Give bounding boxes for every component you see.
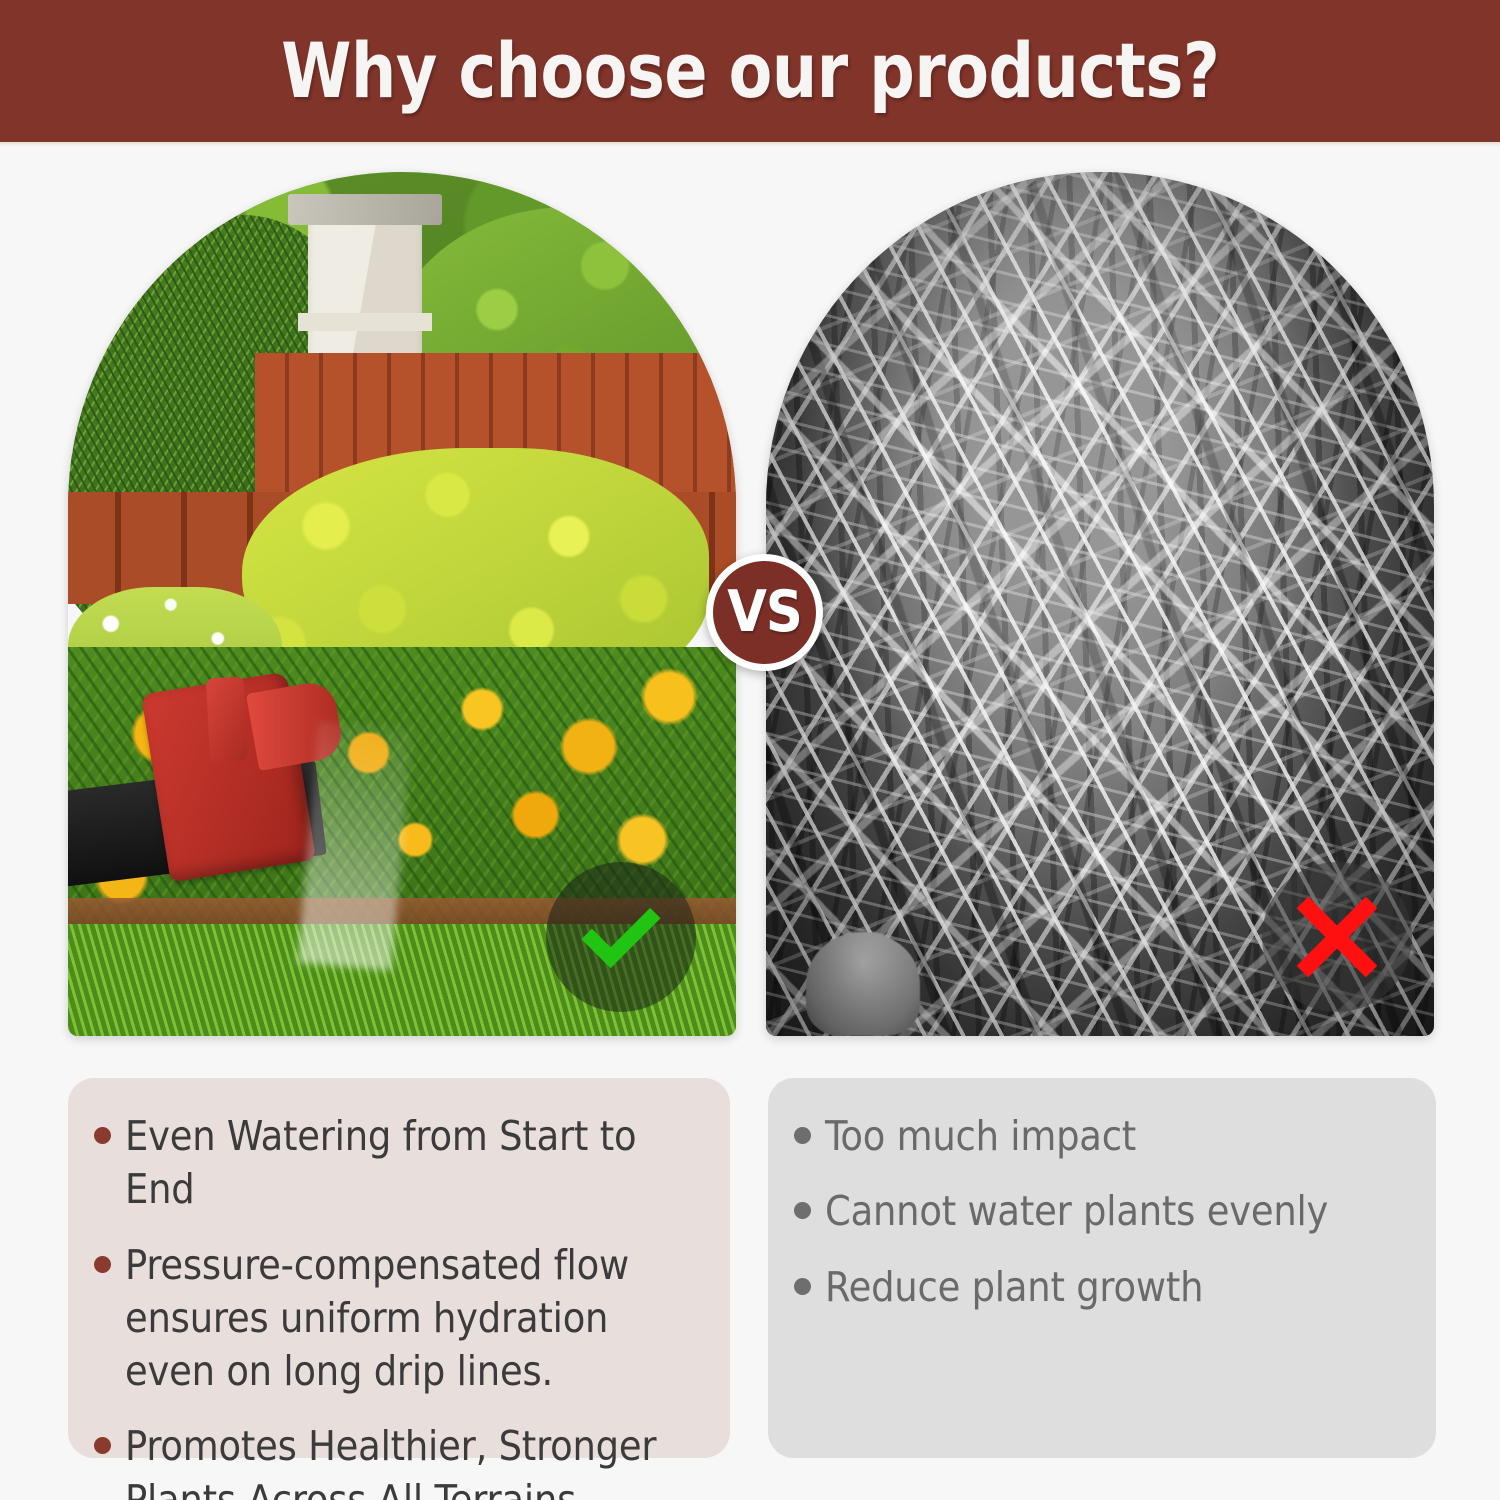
cons-list: Too much impact Cannot water plants even…	[794, 1110, 1410, 1314]
list-item: Promotes Healthier, Stronger Plants Acro…	[94, 1420, 704, 1500]
pros-item-text: Even Watering from Start to End	[125, 1110, 704, 1217]
header-banner: Why choose our products?	[0, 0, 1500, 142]
vs-label: VS	[727, 584, 802, 641]
bullet-dot-icon	[794, 1278, 811, 1295]
pros-card: Even Watering from Start to End Pressure…	[68, 1078, 730, 1458]
page-title: Why choose our products?	[281, 33, 1219, 109]
cross-icon	[1289, 889, 1385, 985]
bullet-dot-icon	[94, 1127, 111, 1144]
cons-item-text: Reduce plant growth	[825, 1261, 1203, 1314]
bullet-dot-icon	[794, 1127, 811, 1144]
check-icon	[569, 885, 673, 989]
pros-item-text: Pressure-compensated flow ensures unifor…	[125, 1239, 704, 1399]
bullet-dot-icon	[94, 1437, 111, 1454]
list-item: Reduce plant growth	[794, 1261, 1410, 1314]
list-item: Cannot water plants evenly	[794, 1185, 1410, 1238]
list-item: Too much impact	[794, 1110, 1410, 1163]
bullet-dot-icon	[794, 1202, 811, 1219]
con-verdict-badge	[1262, 862, 1412, 1012]
bullet-dot-icon	[94, 1256, 111, 1273]
list-item: Even Watering from Start to End	[94, 1110, 704, 1217]
cons-item-text: Cannot water plants evenly	[825, 1185, 1328, 1238]
pro-verdict-badge	[546, 862, 696, 1012]
pros-list: Even Watering from Start to End Pressure…	[94, 1110, 704, 1500]
cons-card: Too much impact Cannot water plants even…	[768, 1078, 1436, 1458]
cons-item-text: Too much impact	[825, 1110, 1136, 1163]
comparison-infographic: Why choose our products?	[0, 0, 1500, 1500]
header-divider	[0, 142, 1500, 147]
list-item: Pressure-compensated flow ensures unifor…	[94, 1239, 704, 1399]
vs-badge: VS	[706, 554, 823, 671]
pros-item-text: Promotes Healthier, Stronger Plants Acro…	[125, 1420, 704, 1500]
